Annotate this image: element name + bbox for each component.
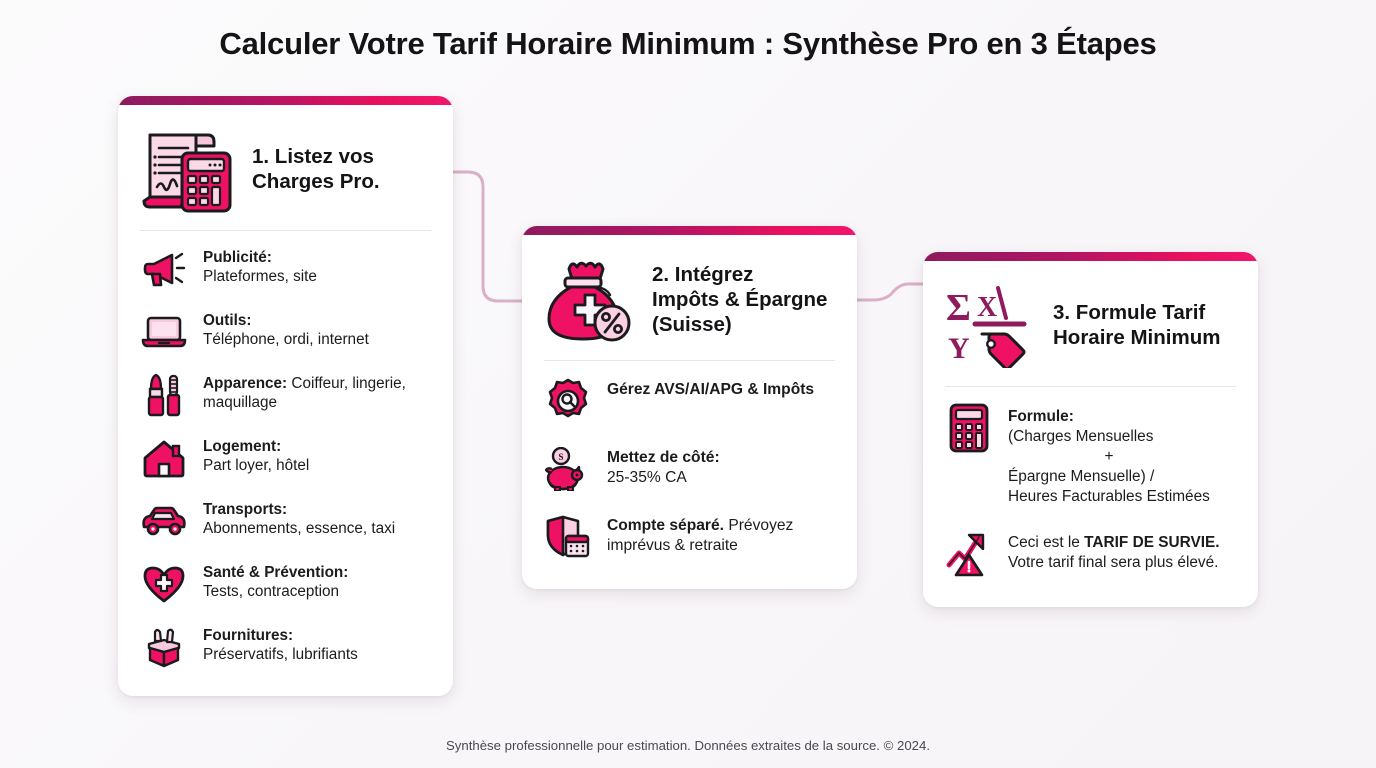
list-item-text: Santé & Prévention: Tests, contraception <box>203 561 348 603</box>
list-item: Fournitures: Préservatifs, lubrifiants <box>138 615 433 678</box>
item-bold: Santé & Prévention: <box>203 564 348 581</box>
item-rest: Abonnements, essence, taxi <box>203 520 395 537</box>
calculator-icon <box>943 405 995 451</box>
card-header: 2. Intégrez Impôts & Épargne (Suisse) <box>542 251 837 347</box>
list-item: Formule: (Charges Mensuelles + Épargne M… <box>943 393 1238 519</box>
car-icon <box>138 498 190 544</box>
card-accent-bar <box>522 226 857 235</box>
item-bold: Publicité: <box>203 249 272 266</box>
item-bold: Transports: <box>203 501 287 518</box>
item-rest: Votre tarif final sera plus élevé. <box>1008 554 1218 571</box>
gear-search-icon <box>542 378 594 424</box>
item-rest: Téléphone, ordi, internet <box>203 331 369 348</box>
piggy-bank-icon: S <box>542 446 594 492</box>
card-step-3: Σ Y X 3. Formule Tarif Horaire Minimum <box>923 252 1258 607</box>
formula-line: Heures Facturables Estimées <box>1008 488 1210 505</box>
item-bold: Mettez de côté: <box>607 449 720 466</box>
item-rest: 25-35% CA <box>607 469 687 486</box>
connector-card2-card3 <box>857 284 923 300</box>
svg-text:Y: Y <box>948 332 970 365</box>
card-title-line: 3. Formule Tarif <box>1053 301 1205 324</box>
growth-alert-icon <box>943 531 995 577</box>
laptop-icon <box>138 309 190 355</box>
formula-line: Épargne Mensuelle) / <box>1008 468 1154 485</box>
divider <box>945 386 1236 387</box>
shield-calendar-icon <box>542 514 594 560</box>
svg-text:S: S <box>558 452 563 462</box>
card-title-line: Impôts & Épargne <box>652 288 827 311</box>
card-step-2: 2. Intégrez Impôts & Épargne (Suisse) <box>522 226 857 589</box>
card-title-line: Charges Pro. <box>252 170 380 193</box>
card-title: 2. Intégrez Impôts & Épargne (Suisse) <box>652 262 827 337</box>
list-item-text: Ceci est le TARIF DE SURVIE. Votre tarif… <box>1008 531 1238 573</box>
list-item: Transports: Abonnements, essence, taxi <box>138 489 433 552</box>
card-title: 3. Formule Tarif Horaire Minimum <box>1053 300 1220 350</box>
item-rest: Plateformes, site <box>203 268 317 285</box>
item-pre: Ceci est le <box>1008 534 1084 551</box>
list-item: Compte séparé. Prévoyez imprévus & retra… <box>542 503 837 571</box>
house-icon <box>138 435 190 481</box>
money-bag-percent-icon <box>542 253 638 345</box>
item-bold: TARIF DE SURVIE. <box>1084 534 1219 551</box>
item-bold: Compte séparé. <box>607 517 724 534</box>
item-rest: Part loyer, hôtel <box>203 457 309 474</box>
megaphone-icon <box>138 246 190 292</box>
page-title: Calculer Votre Tarif Horaire Minimum : S… <box>0 26 1376 62</box>
list-item: Gérez AVS/AI/APG & Impôts <box>542 367 837 435</box>
supply-box-icon <box>138 624 190 670</box>
list-item-text: Compte séparé. Prévoyez imprévus & retra… <box>607 514 837 557</box>
card-item-list: Formule: (Charges Mensuelles + Épargne M… <box>943 393 1238 589</box>
card-title-line: (Suisse) <box>652 313 732 336</box>
svg-text:Σ: Σ <box>946 287 971 329</box>
infographic-canvas: Calculer Votre Tarif Horaire Minimum : S… <box>0 0 1376 768</box>
list-item-text: Outils: Téléphone, ordi, internet <box>203 309 369 351</box>
card-step-1: 1. Listez vos Charges Pro. <box>118 96 453 696</box>
list-item-text: Apparence: Coiffeur, lingerie, maquillag… <box>203 372 433 414</box>
list-item-text: Fournitures: Préservatifs, lubrifiants <box>203 624 358 666</box>
card-header: Σ Y X 3. Formule Tarif Horaire Minimum <box>943 277 1238 373</box>
item-bold: Gérez AVS/AI/APG & Impôts <box>607 381 814 398</box>
sigma-formula-tag-icon: Σ Y X <box>943 282 1039 368</box>
list-item-text: Gérez AVS/AI/APG & Impôts <box>607 378 814 400</box>
list-item: Publicité: Plateformes, site <box>138 237 433 300</box>
list-item-text: Formule: (Charges Mensuelles + Épargne M… <box>1008 405 1210 507</box>
divider <box>544 360 835 361</box>
footer-note: Synthèse professionnelle pour estimation… <box>0 738 1376 753</box>
card-item-list: Publicité: Plateformes, site <box>138 237 433 678</box>
lipstick-mascara-icon <box>138 372 190 418</box>
card-accent-bar <box>923 252 1258 261</box>
list-item: Logement: Part loyer, hôtel <box>138 426 433 489</box>
connector-card1-card2 <box>453 172 522 301</box>
list-item: S Mettez de côté: 25-35% CA <box>542 435 837 503</box>
card-header: 1. Listez vos Charges Pro. <box>138 121 433 217</box>
list-item-text: Transports: Abonnements, essence, taxi <box>203 498 395 540</box>
invoice-calculator-icon <box>138 123 238 215</box>
item-bold: Logement: <box>203 438 281 455</box>
card-title-line: 2. Intégrez <box>652 263 753 286</box>
item-rest: Préservatifs, lubrifiants <box>203 646 358 663</box>
item-bold: Outils: <box>203 312 251 329</box>
list-item: Ceci est le TARIF DE SURVIE. Votre tarif… <box>943 519 1238 589</box>
list-item: Santé & Prévention: Tests, contraception <box>138 552 433 615</box>
list-item-text: Mettez de côté: 25-35% CA <box>607 446 720 489</box>
list-item-text: Logement: Part loyer, hôtel <box>203 435 309 477</box>
card-item-list: Gérez AVS/AI/APG & Impôts S <box>542 367 837 571</box>
card-accent-bar <box>118 96 453 105</box>
list-item-text: Publicité: Plateformes, site <box>203 246 317 288</box>
card-title-line: Horaire Minimum <box>1053 326 1220 349</box>
heart-plus-icon <box>138 561 190 607</box>
item-bold: Formule: <box>1008 408 1074 425</box>
formula-line: + <box>1008 447 1210 467</box>
divider <box>140 230 431 231</box>
item-rest: Tests, contraception <box>203 583 339 600</box>
svg-text:X: X <box>977 292 997 323</box>
card-title: 1. Listez vos Charges Pro. <box>252 144 380 194</box>
formula-line: (Charges Mensuelles <box>1008 428 1153 445</box>
item-bold: Apparence: <box>203 375 287 392</box>
list-item: Apparence: Coiffeur, lingerie, maquillag… <box>138 363 433 426</box>
list-item: Outils: Téléphone, ordi, internet <box>138 300 433 363</box>
card-title-line: 1. Listez vos <box>252 145 374 168</box>
item-bold: Fournitures: <box>203 627 293 644</box>
